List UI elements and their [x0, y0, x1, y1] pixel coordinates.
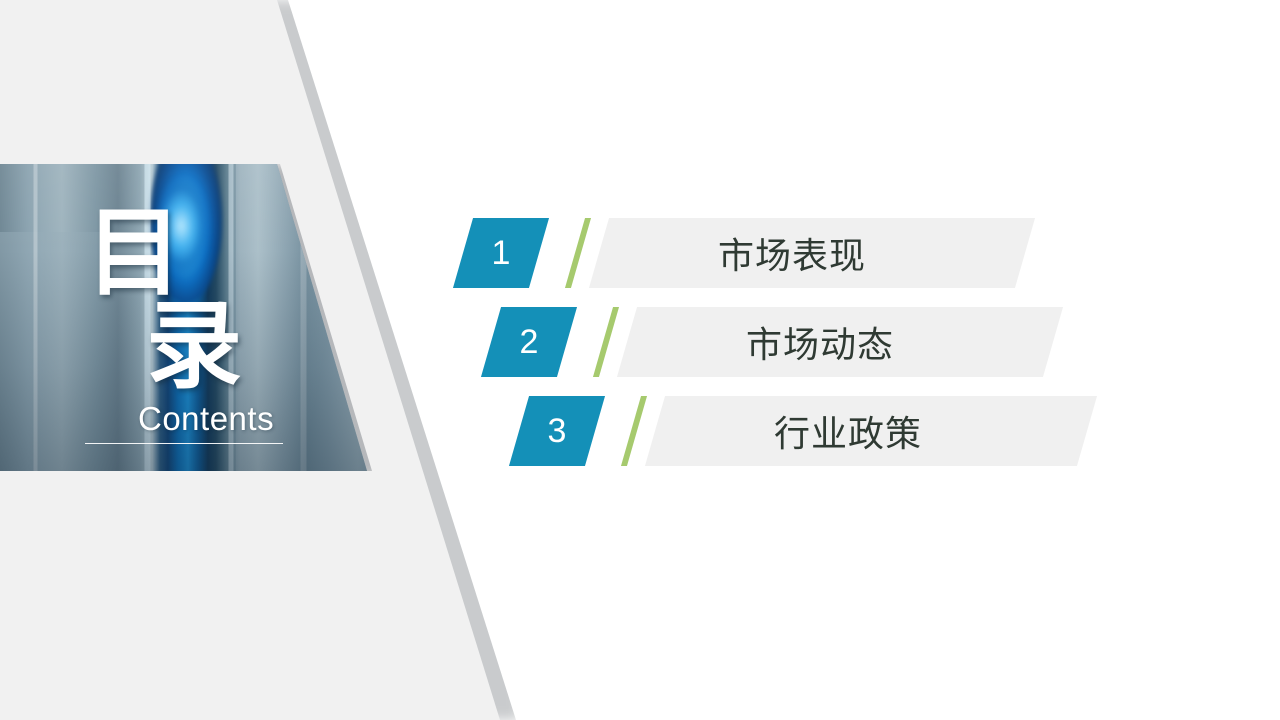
toc-item-1[interactable]: 1 市场表现	[463, 218, 1083, 288]
toc-item-2-accent-bar	[593, 307, 619, 377]
slide-canvas: 目 录 Contents 1 市场表现 2 市场动态 3 行业政策	[0, 0, 1280, 720]
toc-item-2-number: 2	[491, 307, 567, 377]
toc-item-1-number: 1	[463, 218, 539, 288]
toc-item-2-label: 市场动态	[746, 307, 894, 377]
toc-item-1-label: 市场表现	[718, 218, 866, 288]
toc-item-3-label: 行业政策	[774, 396, 922, 466]
toc-item-3-number: 3	[519, 396, 595, 466]
toc-item-3-accent-bar	[621, 396, 647, 466]
toc-item-1-accent-bar	[565, 218, 591, 288]
toc-item-2[interactable]: 2 市场动态	[491, 307, 1111, 377]
toc-item-3[interactable]: 3 行业政策	[519, 396, 1139, 466]
toc-list: 1 市场表现 2 市场动态 3 行业政策	[0, 0, 1280, 720]
